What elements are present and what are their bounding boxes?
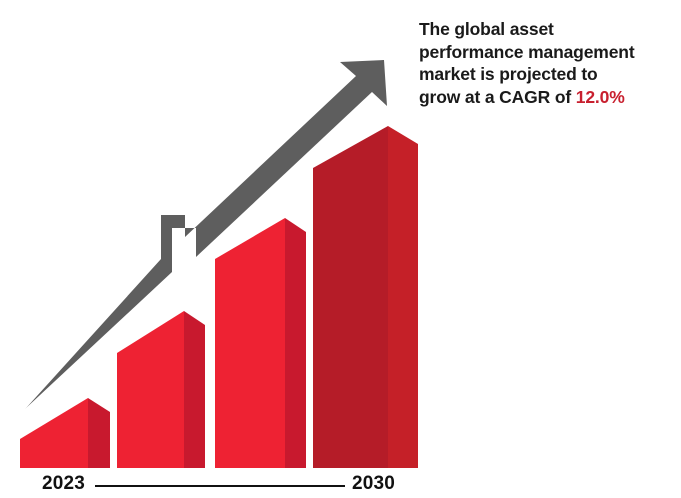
- bar-3-front-face: [215, 218, 285, 468]
- callout-line-3: market is projected to: [419, 64, 598, 84]
- callout-line-4-prefix: grow at a CAGR of: [419, 87, 576, 107]
- callout-line-2: performance management: [419, 42, 635, 62]
- bar-4-side-face: [388, 126, 418, 468]
- callout-line-1: The global asset: [419, 19, 554, 39]
- bar-1-front-face: [20, 398, 88, 468]
- bar-4-front-face: [313, 126, 388, 468]
- bar-2: [117, 311, 205, 468]
- axis-connector-line: [95, 485, 345, 487]
- bar-4: [313, 126, 418, 468]
- bar-3: [215, 218, 306, 468]
- bar-2-front-face: [117, 311, 184, 468]
- bar-1: [20, 398, 110, 468]
- bar-2-side-face: [184, 311, 205, 468]
- axis-label-end: 2030: [352, 473, 395, 495]
- cagr-value: 12.0%: [576, 87, 625, 107]
- axis-label-start: 2023: [42, 473, 85, 495]
- infographic-root: The global asset performance management …: [0, 0, 681, 498]
- cagr-callout: The global asset performance management …: [419, 18, 671, 108]
- bar-3-side-face: [285, 218, 306, 468]
- bar-1-side-face: [88, 398, 110, 468]
